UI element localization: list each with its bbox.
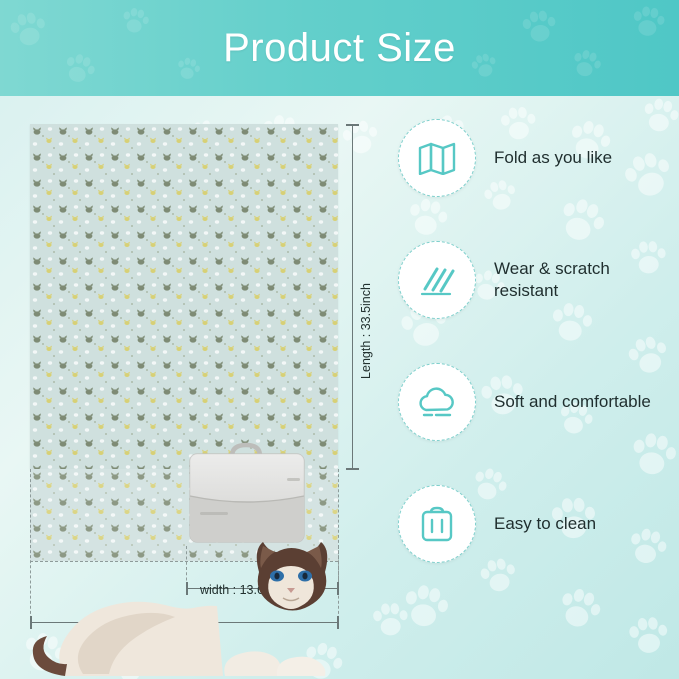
fold-icon bbox=[398, 119, 476, 197]
length-cap-top bbox=[346, 124, 359, 126]
feature-fold: Fold as you like bbox=[398, 114, 679, 202]
feature-soft: Soft and comfortable bbox=[398, 358, 679, 446]
mat-top-surface bbox=[30, 124, 338, 469]
length-label-wrap: Length : 33.5inch bbox=[358, 271, 374, 391]
cat-photo bbox=[25, 526, 365, 679]
cloud-icon bbox=[398, 363, 476, 441]
product-illustration: Length : 33.5inch width : 13.6inch width… bbox=[0, 96, 390, 679]
feature-list: Fold as you like Wear & scratch resistan… bbox=[390, 96, 679, 679]
feature-scratch: Wear & scratch resistant bbox=[398, 236, 679, 324]
length-label: Length : 33.5inch bbox=[359, 283, 373, 379]
page-title: Product Size bbox=[0, 0, 679, 96]
product-size-infographic: Product Size bbox=[0, 0, 679, 679]
header-banner: Product Size bbox=[0, 0, 679, 96]
feature-label: Easy to clean bbox=[494, 513, 596, 535]
feature-clean: Easy to clean bbox=[398, 480, 679, 568]
length-cap-bottom bbox=[346, 468, 359, 470]
mat-pattern-icon bbox=[30, 124, 338, 469]
length-measure-line bbox=[352, 124, 353, 469]
feature-label: Wear & scratch resistant bbox=[494, 258, 674, 302]
feature-label: Soft and comfortable bbox=[494, 391, 651, 413]
feature-label: Fold as you like bbox=[494, 147, 612, 169]
scratch-icon bbox=[398, 241, 476, 319]
bag-clean-icon bbox=[398, 485, 476, 563]
